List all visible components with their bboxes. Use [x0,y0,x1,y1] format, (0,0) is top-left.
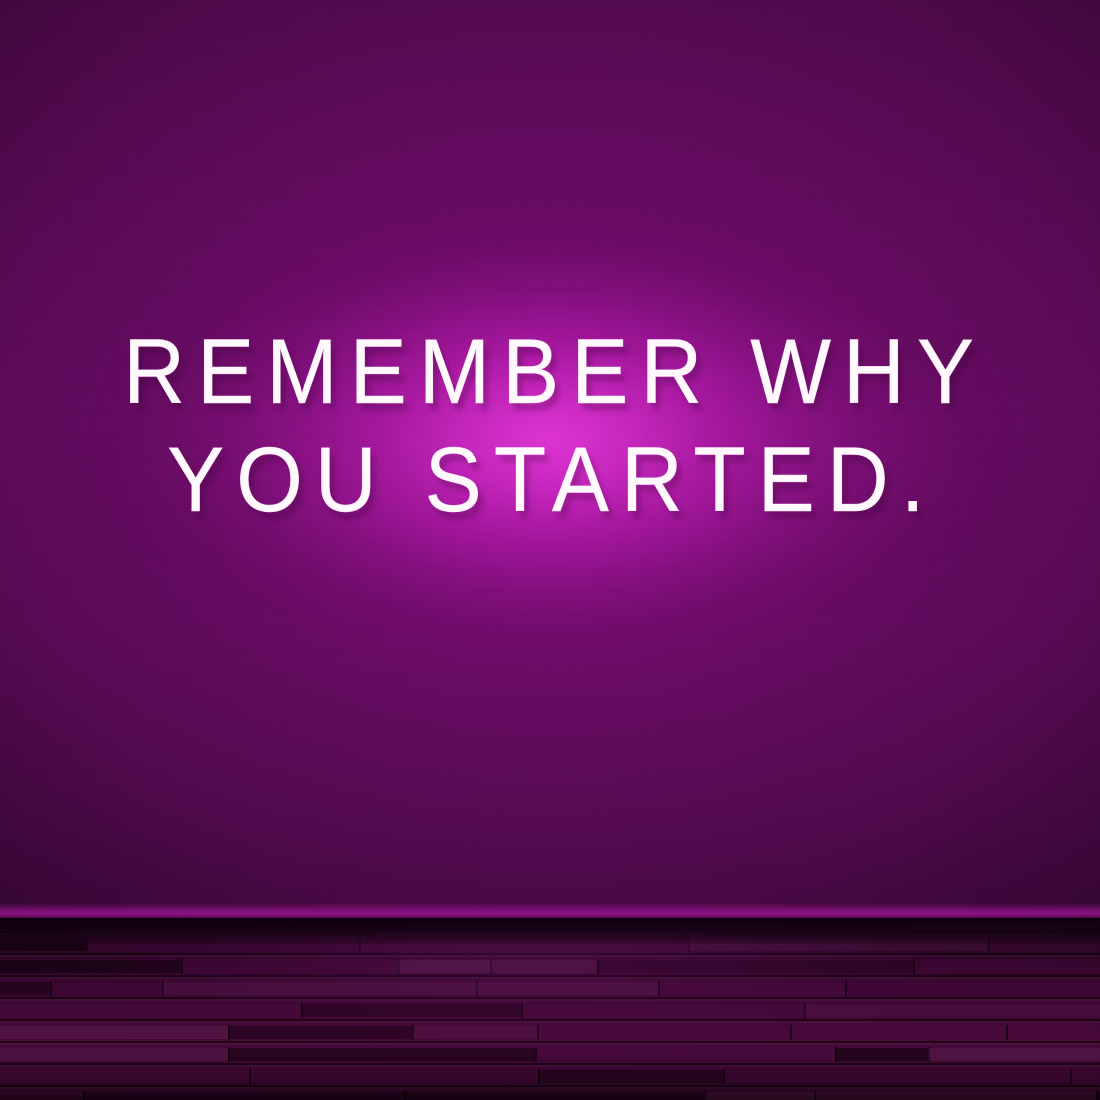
floor-plank-seam [86,937,88,952]
floor-plank-seam [790,1025,792,1040]
floor-plank [359,938,688,951]
floor-plank [398,960,490,973]
floor-plank-seam [412,1025,414,1040]
floor-plank-seam [804,1003,806,1018]
floor-plank [845,982,1100,995]
floor-plank [0,1070,249,1083]
floor-plank-seam [928,1047,930,1062]
floor-plank-seam [688,937,690,952]
floor-plank [538,1070,723,1083]
floor-plank [988,938,1100,951]
floor-plank-seam [249,1069,251,1084]
floor-bottom-shade [0,1040,1100,1100]
floor-light-pool [0,918,1100,1100]
floor-plank [565,918,906,929]
floor-plank [913,960,1100,973]
floor-plank [412,1026,537,1039]
floor-plank [928,1048,1100,1061]
floor-plank-seam [1096,1091,1098,1100]
floor-plank [1006,1026,1100,1039]
floor-plank-seam [658,981,660,996]
floor-plank-seam [398,959,400,974]
floor-plank [289,918,565,929]
floor-plank-seam [537,1025,539,1040]
floor-plank [906,918,1100,929]
floor-plank [181,960,398,973]
floor-plank [50,982,162,995]
floor-plank [58,918,289,929]
plank-row-seams [0,918,1100,1100]
floor-plank [86,938,359,951]
floor-plank-seam [1006,1025,1008,1040]
floor-plank [490,960,597,973]
floor-plank-seam [535,1047,537,1062]
floor-plank-seam [162,981,164,996]
floor-plank-seam [1070,1069,1072,1084]
floor-plank-seam [476,981,478,996]
floor-plank [476,982,658,995]
floor-plank-seam [814,1091,816,1100]
floor-plank [301,1004,521,1017]
floor-plank-seam [597,959,599,974]
floor-plank [537,1026,790,1039]
floor-plank [0,918,58,929]
floor-plank [0,1004,301,1017]
floor-plank-seam [359,937,361,952]
floor-plank [521,1004,804,1017]
floor-plank-seam [181,959,183,974]
floor-plank [83,1092,404,1100]
floor-plank [0,1048,228,1061]
floor-plank [658,982,845,995]
floor-plank-seam [58,918,60,930]
floor-plank [0,960,181,973]
floor-plank [249,1070,538,1083]
floor-plank-seam [906,918,908,930]
floor-plank-seam [705,1091,707,1100]
floor-plank [0,938,86,951]
floor-plank [814,1092,1096,1100]
floor-plank-seam [845,981,847,996]
floor-plank [835,1048,928,1061]
floor-plank [162,982,476,995]
floor-plank [228,1026,412,1039]
neon-sign-scene: REMEMBER WHY YOU STARTED. REMEMBER WHY Y… [0,0,1100,1100]
wooden-floor [0,918,1100,1100]
floor-plank [705,1092,814,1100]
floor-plank [404,1092,705,1100]
floor-plank [0,982,50,995]
floor-plank-seam [50,981,52,996]
floor-plank-seam [83,1091,85,1100]
floor-plank [1096,1092,1100,1100]
floor-plank-seam [404,1091,406,1100]
floor-plank [688,938,988,951]
floor-plank-seam [538,1069,540,1084]
floor-plank-seam [835,1047,837,1062]
floor-plank-seam [228,1047,230,1062]
floor-plank [0,1026,228,1039]
floor-plank [1070,1070,1100,1083]
floor-plank [228,1048,535,1061]
floor-plank [535,1048,835,1061]
floor-plank-seam [289,918,291,930]
floor-plank-seam [913,959,915,974]
floor-texture-overlay [0,918,1100,1100]
floor-plank [723,1070,1070,1083]
floor-plank [790,1026,1006,1039]
floor-plank-seam [723,1069,725,1084]
floor-plank [0,1092,83,1100]
floor-plank-seam [490,959,492,974]
floor-plank-seam [988,937,990,952]
floor-plank [597,960,913,973]
floor-plank-seam [521,1003,523,1018]
floor-plank-seam [301,1003,303,1018]
wall-surface [0,0,1100,918]
floor-plank-seam [228,1025,230,1040]
floor-plank [804,1004,1100,1017]
floor-plank-seam [565,918,567,930]
